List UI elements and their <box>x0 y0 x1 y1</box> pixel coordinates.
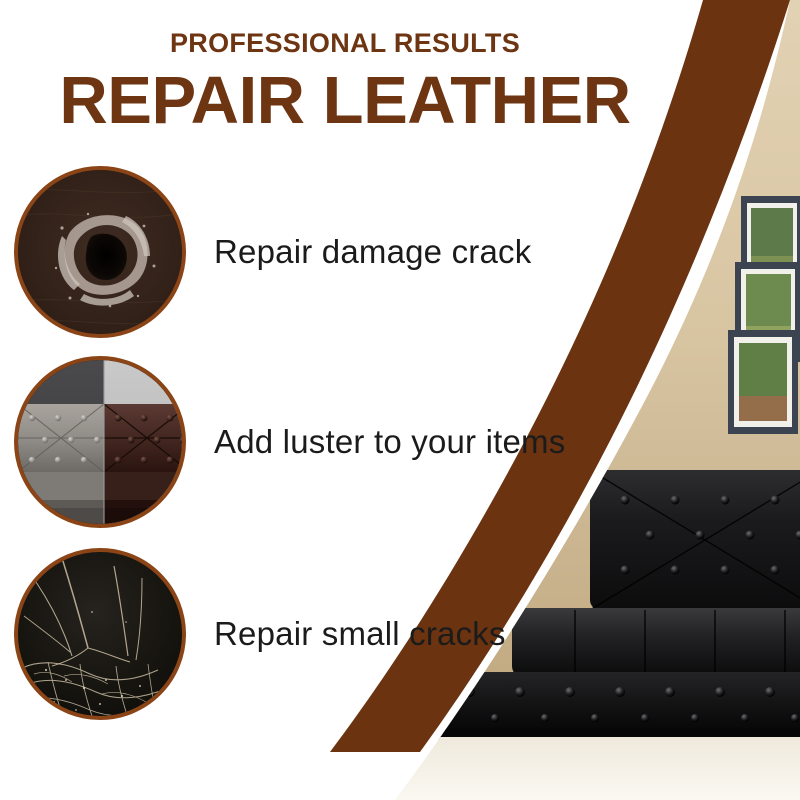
feature-label: Repair small cracks <box>214 615 506 653</box>
thumbnail-black-leather-cracks <box>14 548 186 720</box>
feature-item-repair-damage-crack: Repair damage crack <box>14 162 614 342</box>
damaged-leather-hole-icon <box>18 170 182 334</box>
black-leather-cracks-icon <box>18 552 182 716</box>
page-title: REPAIR LEATHER <box>0 66 690 136</box>
thumbnail-damaged-leather-hole <box>14 166 186 338</box>
eyebrow-text: PROFESSIONAL RESULTS <box>0 28 690 59</box>
framed-picture <box>728 330 798 434</box>
feature-item-repair-small-cracks: Repair small cracks <box>14 544 614 724</box>
poster-canvas: PROFESSIONAL RESULTS REPAIR LEATHER <box>0 0 800 800</box>
feature-item-add-luster: Add luster to your items <box>14 352 614 532</box>
thumbnail-before-after-sofa <box>14 356 186 528</box>
feature-label: Add luster to your items <box>214 423 565 461</box>
before-after-sofa-icon <box>18 360 182 524</box>
feature-label: Repair damage crack <box>214 233 531 271</box>
